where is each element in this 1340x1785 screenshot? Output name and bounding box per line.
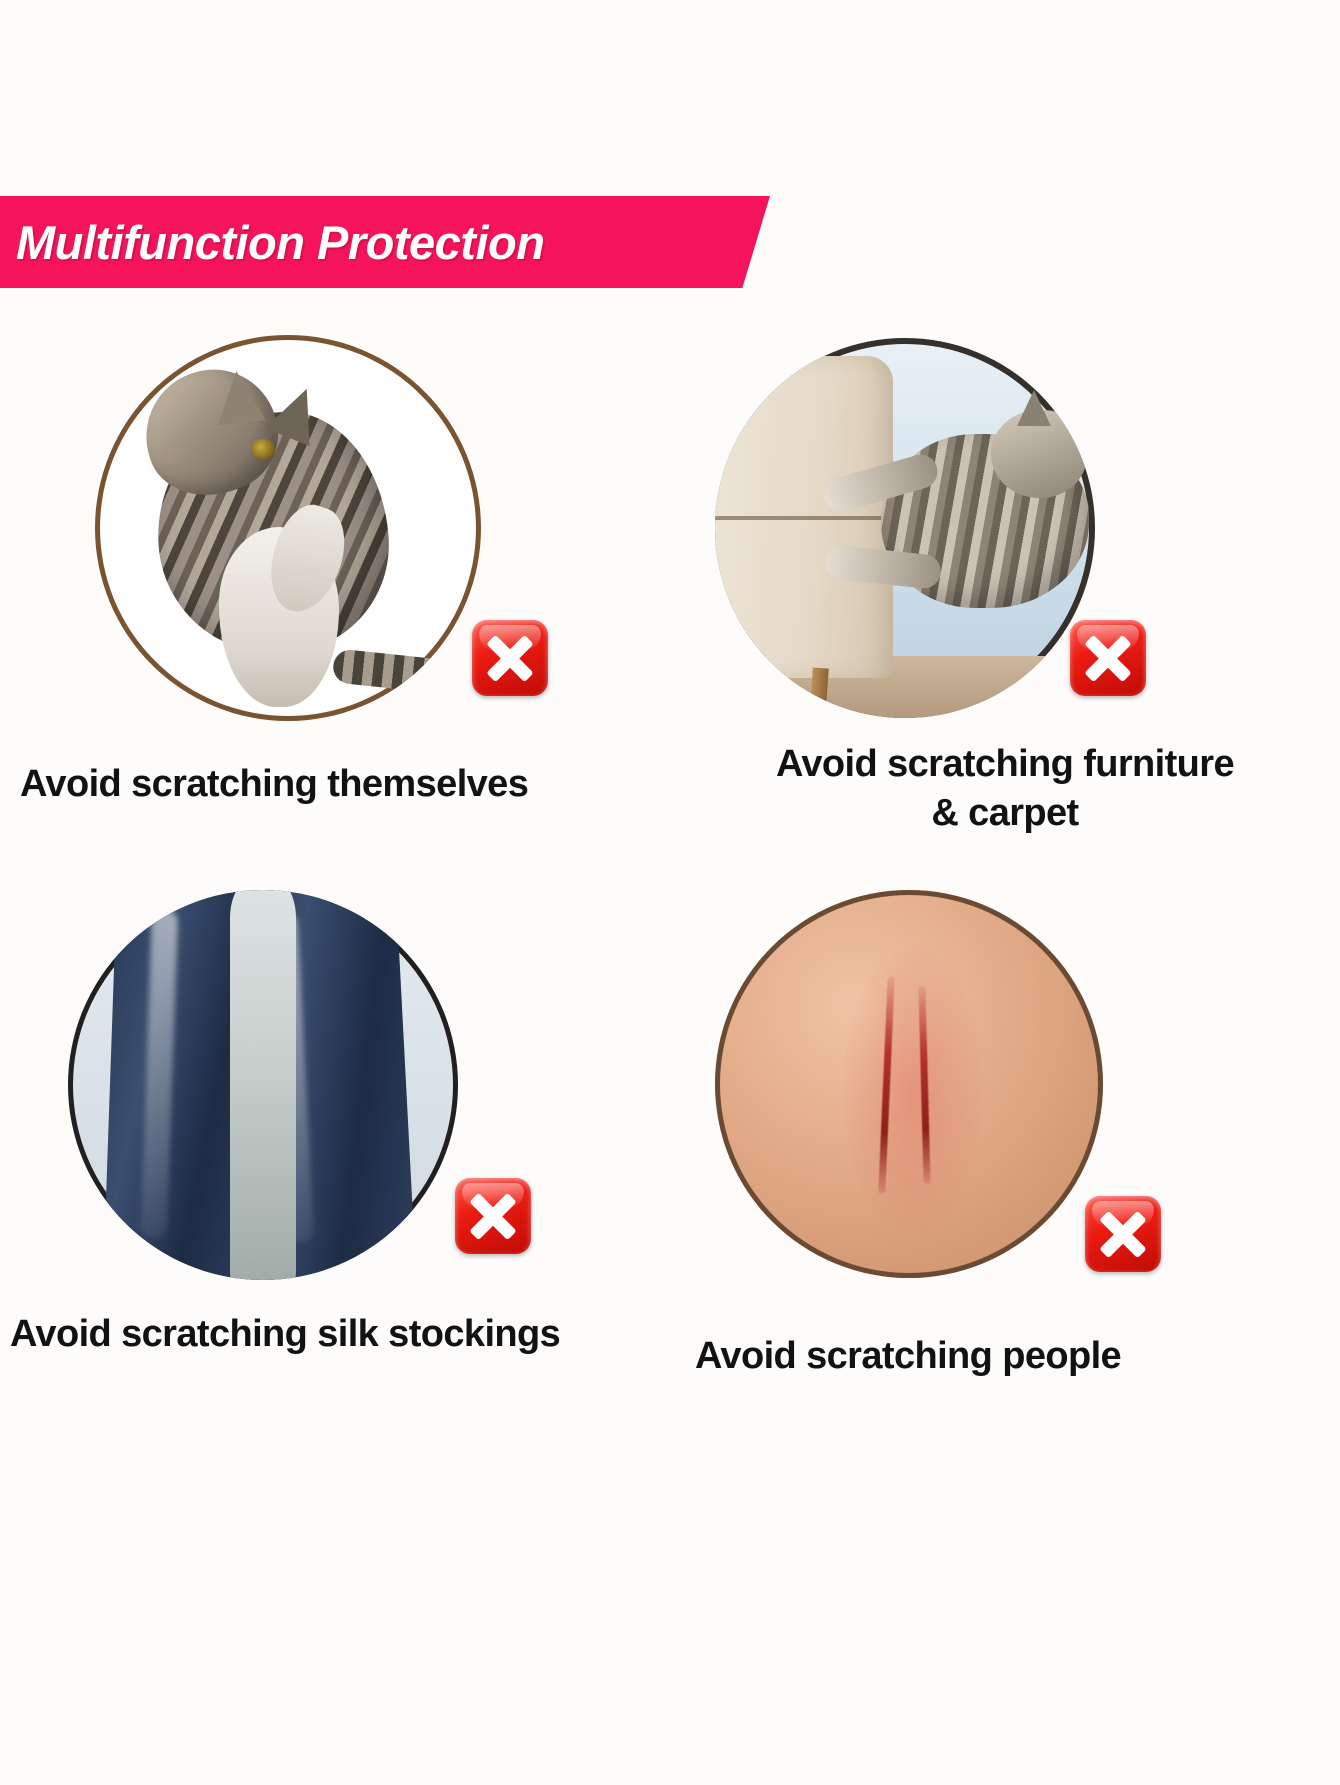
x-mark-icon: [472, 620, 548, 696]
banner-title: Multifunction Protection: [16, 215, 544, 270]
photo-scratched-skin: [715, 890, 1103, 1278]
feature-caption-scratching-people: Avoid scratching people: [695, 1332, 1335, 1381]
feature-image-wrap-3: [10, 880, 650, 1300]
feature-caption-scratching-furniture: Avoid scratching furniture & carpet: [675, 740, 1335, 837]
sofa-seam-shape: [715, 516, 893, 520]
x-mark-icon: [455, 1178, 531, 1254]
stocking-highlight-shape: [141, 909, 179, 1240]
stocking-gap-shape: [230, 890, 296, 1280]
photo-silk-stockings: [68, 890, 458, 1280]
cat-ear-left-shape: [212, 369, 265, 426]
cat-ear-shape: [1017, 390, 1051, 426]
feature-image-wrap-4: [675, 880, 1335, 1300]
banner-multifunction-protection: Multifunction Protection: [0, 196, 770, 288]
feature-cell-scratching-furniture: Avoid scratching furniture & carpet: [675, 320, 1335, 740]
feature-image-wrap-1: [20, 320, 660, 740]
feature-image-wrap-2: [675, 320, 1335, 740]
x-mark-icon: [1070, 620, 1146, 696]
x-mark-icon: [1085, 1196, 1161, 1272]
sofa-shape: [715, 356, 893, 678]
sofa-leg-shape: [809, 668, 829, 718]
feature-cell-scratching-people: Avoid scratching people: [675, 880, 1335, 1300]
feature-cell-scratching-silk-stockings: Avoid scratching silk stockings: [10, 880, 650, 1300]
cat-tail-shape: [332, 648, 465, 695]
photo-cat-scratching-furniture: [715, 338, 1095, 718]
photo-cat-scratching-themselves: [95, 335, 481, 721]
feature-caption-scratching-silk-stockings: Avoid scratching silk stockings: [10, 1310, 650, 1359]
product-infographic: Multifunction Protection: [0, 0, 1340, 1785]
scratch-halo-shape: [843, 946, 983, 1236]
feature-cell-scratching-themselves: Avoid scratching themselves: [20, 320, 660, 740]
cat-eye-shape: [251, 439, 275, 459]
feature-caption-scratching-themselves: Avoid scratching themselves: [20, 760, 660, 809]
